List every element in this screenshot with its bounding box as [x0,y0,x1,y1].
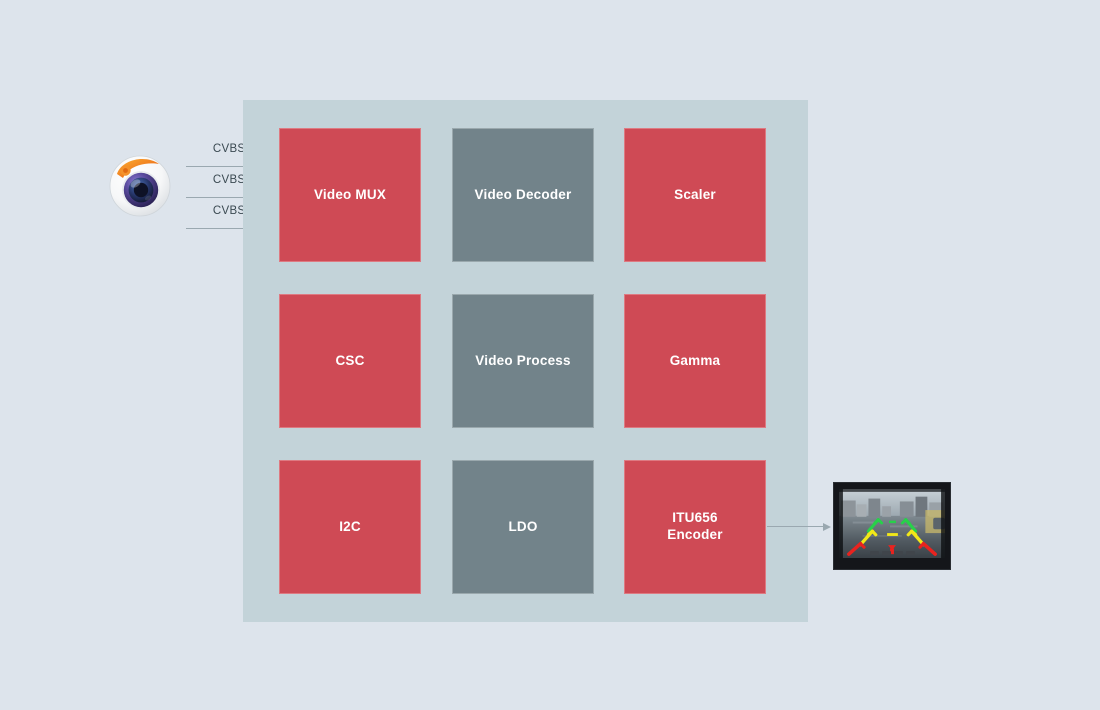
camera-icon [107,152,173,218]
monitor-button[interactable] [906,551,915,555]
connector-encoder-to-monitor [767,521,831,533]
block-i2c[interactable]: I2C [279,460,421,594]
block-video-decoder[interactable]: Video Decoder [452,128,594,262]
connector-line [767,526,823,527]
block-gamma[interactable]: Gamma [624,294,766,428]
monitor-button[interactable] [870,551,879,555]
block-label: Scaler [674,187,716,204]
block-itu656-encoder[interactable]: ITU656 Encoder [624,460,766,594]
block-label: Video Decoder [475,187,572,204]
block-label: Video Process [475,353,570,370]
block-scaler[interactable]: Scaler [624,128,766,262]
block-ldo[interactable]: LDO [452,460,594,594]
arrowhead-icon [823,523,831,531]
monitor-button[interactable] [894,551,903,555]
block-label: CSC [335,353,364,370]
block-label: Gamma [670,353,721,370]
block-label: I2C [339,519,361,536]
block-label: ITU656 Encoder [667,510,722,544]
block-video-process[interactable]: Video Process [452,294,594,428]
monitor-screen [839,489,945,558]
monitor-buttons [839,548,945,557]
monitor-icon [833,482,951,570]
block-label: LDO [508,519,537,536]
block-csc[interactable]: CSC [279,294,421,428]
block-label: Video MUX [314,187,386,204]
monitor-button[interactable] [882,551,891,555]
diagram-canvas: CVBS0 CVBS1 CVBS2 Video MUX Video Decode… [0,0,1100,710]
block-video-mux[interactable]: Video MUX [279,128,421,262]
